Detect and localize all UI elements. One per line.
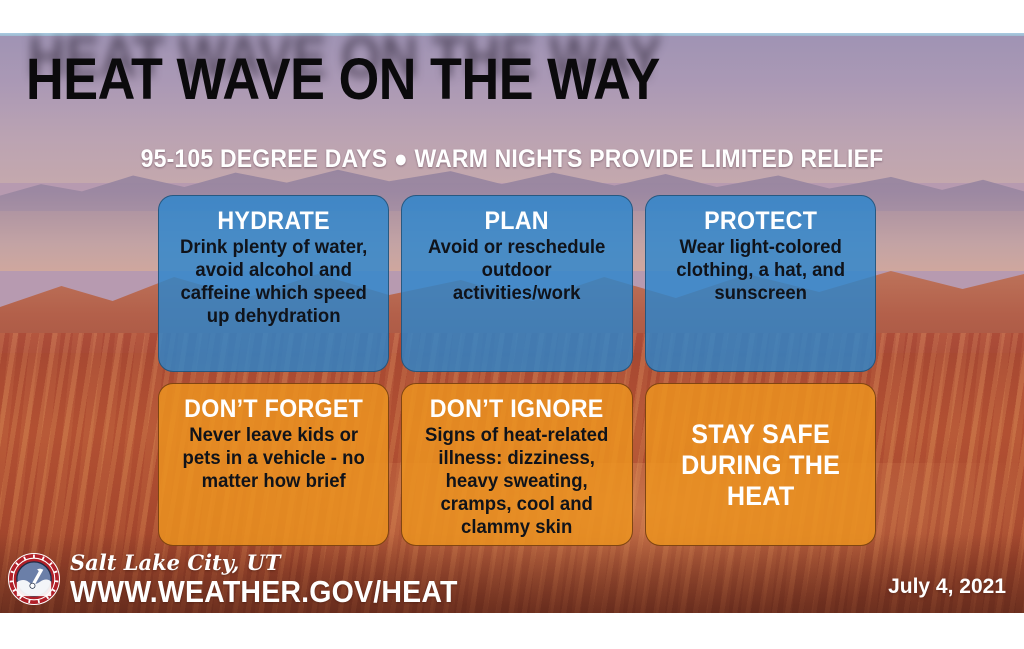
card-title: DON’T IGNORE (422, 396, 613, 422)
card-title: DON’T FORGET (178, 396, 369, 422)
headline-block: HEAT WAVE ON THE WAY HEAT WAVE ON THE WA… (26, 51, 730, 109)
issue-date: July 4, 2021 (888, 575, 1006, 599)
card-protect: PROTECT Wear light-colored clothing, a h… (645, 195, 876, 372)
footer-text-block: Salt Lake City, UT WWW.WEATHER.GOV/HEAT (70, 552, 491, 607)
card-title: STAY SAFE DURING THE HEAT (665, 419, 856, 512)
card-hydrate: HYDRATE Drink plenty of water, avoid alc… (158, 195, 389, 372)
footer-branding: Salt Lake City, UT WWW.WEATHER.GOV/HEAT (8, 552, 491, 607)
nws-seal-icon (8, 553, 60, 605)
heat-wave-infographic: HEAT WAVE ON THE WAY HEAT WAVE ON THE WA… (0, 33, 1024, 613)
page-title: HEAT WAVE ON THE WAY (26, 51, 660, 109)
card-stay-safe: STAY SAFE DURING THE HEAT (645, 383, 876, 546)
advice-card-grid: HYDRATE Drink plenty of water, avoid alc… (158, 195, 876, 546)
website-url: WWW.WEATHER.GOV/HEAT (70, 576, 458, 607)
card-dont-ignore: DON’T IGNORE Signs of heat-related illne… (401, 383, 632, 546)
office-name: Salt Lake City, UT (70, 552, 491, 573)
card-body: Never leave kids or pets in a vehicle - … (176, 424, 371, 492)
card-plan: PLAN Avoid or reschedule outdoor activit… (401, 195, 632, 372)
subtitle: 95-105 DEGREE DAYS ● WARM NIGHTS PROVIDE… (41, 145, 983, 174)
card-title: PROTECT (665, 208, 856, 234)
card-title: HYDRATE (178, 208, 369, 234)
card-body: Wear light-colored clothing, a hat, and … (663, 236, 858, 304)
card-body: Drink plenty of water, avoid alcohol and… (176, 236, 371, 327)
card-title: PLAN (422, 208, 613, 234)
card-dont-forget: DON’T FORGET Never leave kids or pets in… (158, 383, 389, 546)
card-body: Avoid or reschedule outdoor activities/w… (419, 236, 614, 304)
card-body: Signs of heat-related illness: dizziness… (419, 424, 614, 538)
